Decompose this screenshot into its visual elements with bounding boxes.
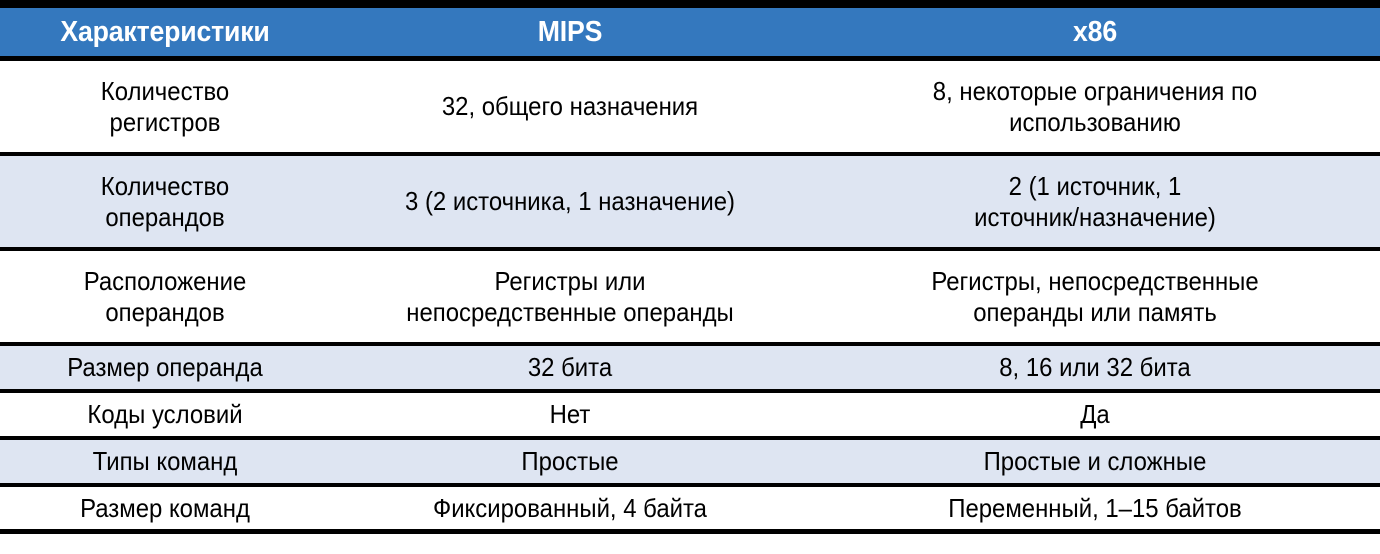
table-header-row: Характеристики MIPS x86 xyxy=(0,0,1380,61)
cell-x86: Да xyxy=(833,399,1357,430)
cell-x86: Переменный, 1–15 байтов xyxy=(833,493,1357,524)
table-row: Количество регистров 32, общего назначен… xyxy=(0,61,1380,156)
cell-feature: Размер команд xyxy=(13,493,317,524)
column-header-feature: Характеристики xyxy=(13,17,317,47)
cell-mips: 32 бита xyxy=(349,352,791,383)
column-header-mips: MIPS xyxy=(349,17,791,47)
table-row: Коды условий Нет Да xyxy=(0,393,1380,440)
cell-mips: Фиксированный, 4 байта xyxy=(349,493,791,524)
cell-x86: Регистры, непосредственные операнды или … xyxy=(833,266,1357,327)
cell-mips: Регистры или непосредственные операнды xyxy=(349,266,791,327)
table-row: Расположение операндов Регистры или непо… xyxy=(0,251,1380,346)
cell-x86: Простые и сложные xyxy=(833,446,1357,477)
table-row: Количество операндов 3 (2 источника, 1 н… xyxy=(0,156,1380,251)
cell-feature: Размер операнда xyxy=(13,352,317,383)
cell-mips: 32, общего назначения xyxy=(349,91,791,122)
cell-feature: Типы команд xyxy=(13,446,317,477)
cell-x86: 8, 16 или 32 бита xyxy=(833,352,1357,383)
cell-x86: 8, некоторые ограничения по использовани… xyxy=(833,76,1357,137)
cell-feature: Расположение операндов xyxy=(13,266,317,327)
column-header-x86: x86 xyxy=(833,17,1357,47)
table-row: Размер операнда 32 бита 8, 16 или 32 бит… xyxy=(0,346,1380,393)
cell-mips: Нет xyxy=(349,399,791,430)
table-row: Типы команд Простые Простые и сложные xyxy=(0,440,1380,487)
table-row: Размер команд Фиксированный, 4 байта Пер… xyxy=(0,487,1380,534)
cell-feature: Количество регистров xyxy=(13,76,317,137)
cell-x86: 2 (1 источник, 1 источник/назначение) xyxy=(833,171,1357,232)
comparison-table: Характеристики MIPS x86 Количество регис… xyxy=(0,0,1380,554)
cell-feature: Количество операндов xyxy=(13,171,317,232)
cell-mips: Простые xyxy=(349,446,791,477)
cell-mips: 3 (2 источника, 1 назначение) xyxy=(349,186,791,217)
cell-feature: Коды условий xyxy=(13,399,317,430)
